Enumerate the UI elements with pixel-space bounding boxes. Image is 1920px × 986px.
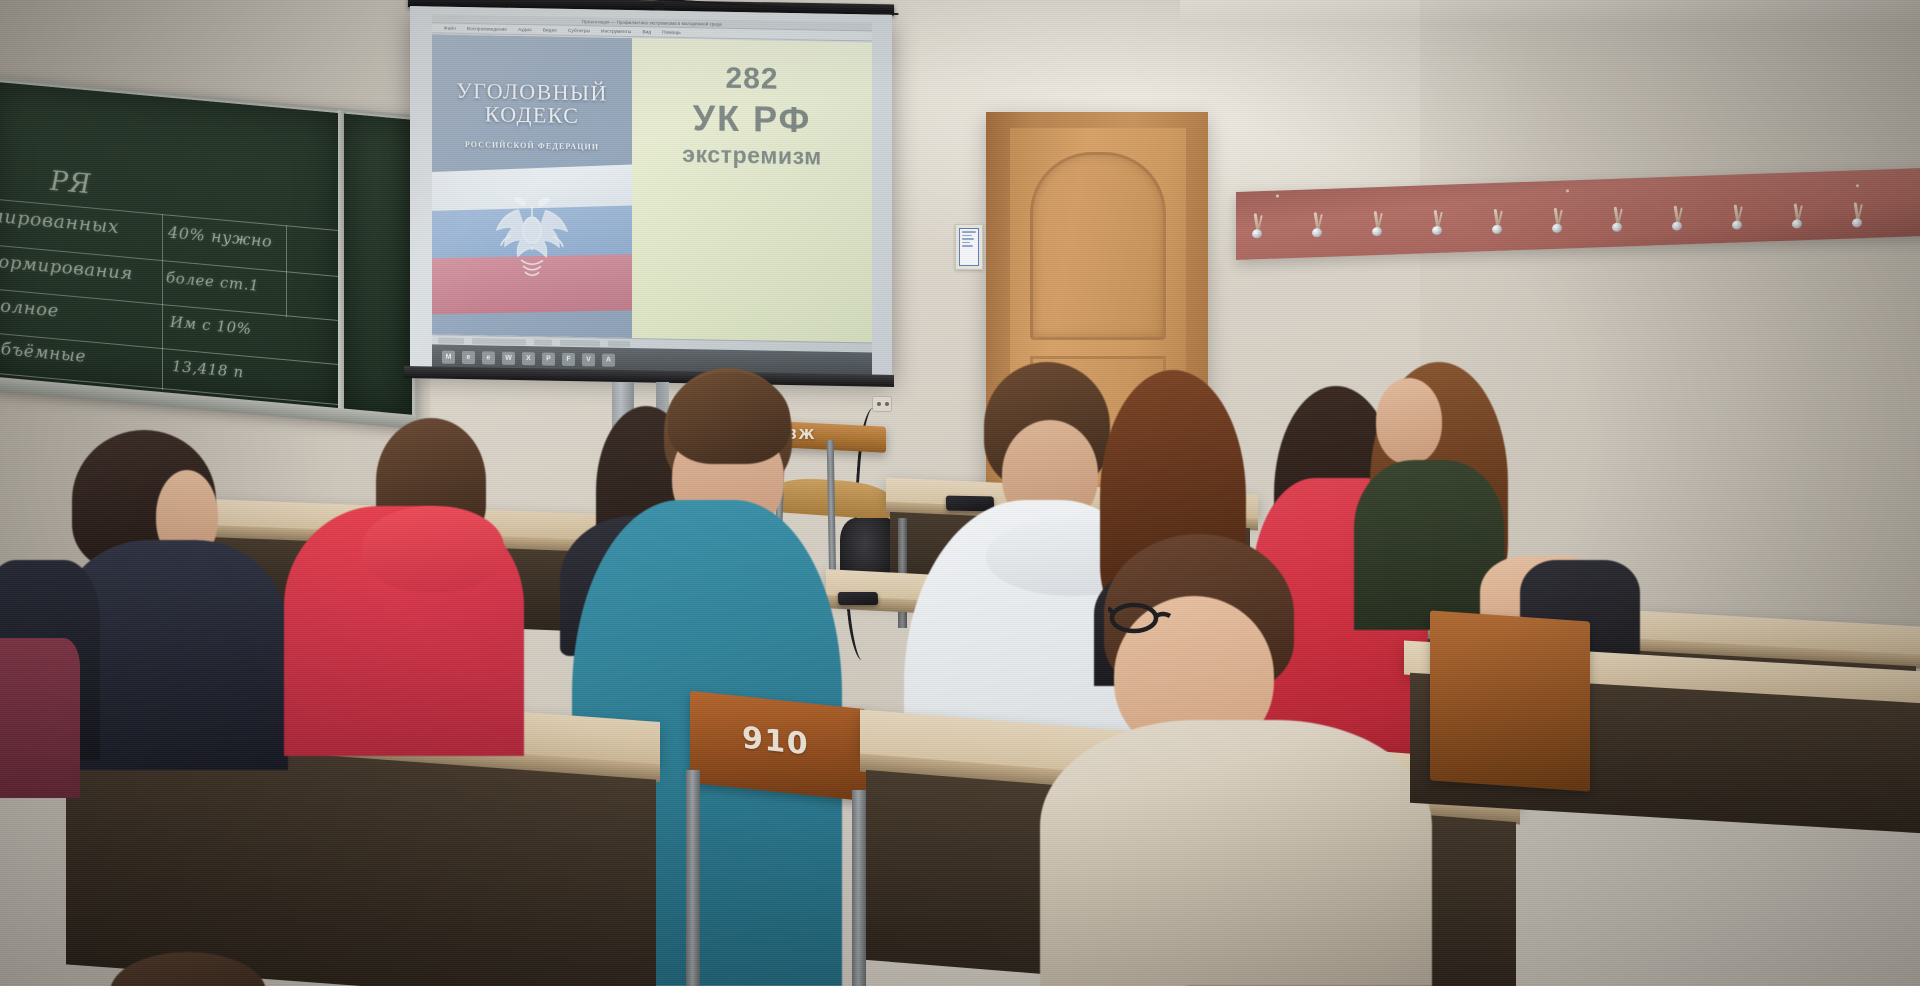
menu-item-2[interactable]: Аудио — [518, 27, 532, 32]
slide-content: УГОЛОВНЫЙ КОДЕКС РОССИЙСКОЙ ФЕДЕРАЦИИ — [432, 34, 872, 342]
coat-hook-8[interactable] — [1730, 204, 1743, 234]
dock-icon-1[interactable]: e — [462, 350, 475, 363]
student-2-hood — [362, 506, 504, 592]
criminal-code-book-cover: УГОЛОВНЫЙ КОДЕКС РОССИЙСКОЙ ФЕДЕРАЦИИ — [432, 34, 632, 338]
chair-910-post-left — [686, 770, 700, 986]
article-282-poster: 282 УК РФ экстремизм — [632, 38, 872, 342]
criminal-code-title-line2: КОДЕКС — [432, 102, 632, 129]
glasses-icon — [1108, 596, 1218, 636]
coat-hook-9[interactable] — [1790, 203, 1803, 233]
desk-front-left-front — [66, 736, 656, 986]
blackboard-heading: РЯ — [50, 166, 91, 201]
student-9-body — [1040, 720, 1432, 986]
criminal-code-title-line1: УГОЛОВНЫЙ — [432, 78, 632, 105]
chair-910-post-right — [852, 790, 866, 986]
dock-icon-2[interactable]: e — [482, 351, 495, 364]
chair-far-right[interactable] — [1430, 610, 1590, 791]
coat-hook-1[interactable] — [1310, 212, 1323, 242]
menu-item-4[interactable]: Субтитры — [568, 28, 590, 33]
projection-surface: Презентация — Профилактика экстремизма в… — [410, 6, 892, 379]
dock-icon-4[interactable]: X — [522, 352, 535, 365]
code-abbreviation: УК РФ — [632, 96, 872, 142]
coat-hook-6[interactable] — [1610, 206, 1623, 236]
coat-hook-2[interactable] — [1370, 211, 1383, 241]
dock-icon-6[interactable]: F — [562, 352, 575, 365]
projected-desktop: Презентация — Профилактика экстремизма в… — [410, 6, 892, 379]
coat-hook-7[interactable] — [1670, 205, 1683, 235]
door-panel-upper — [1030, 152, 1166, 340]
classroom-scene: РЯ мированных 40% нужно нормирования бол… — [0, 0, 1920, 986]
student-8-head — [1376, 378, 1442, 464]
criminal-code-title: УГОЛОВНЫЙ КОДЕКС — [432, 78, 632, 128]
dock-icon-3[interactable]: W — [502, 351, 515, 364]
door-notice-sign — [955, 224, 983, 270]
menu-item-5[interactable]: Инструменты — [601, 29, 631, 35]
menu-item-0[interactable]: Файл — [444, 26, 456, 31]
menu-item-3[interactable]: Видео — [543, 27, 557, 32]
student-4-hair-back — [668, 372, 790, 464]
menu-item-1[interactable]: Воспроизведение — [467, 26, 507, 32]
coat-hook-5[interactable] — [1550, 208, 1563, 238]
phone-on-desk-middle[interactable] — [838, 592, 879, 605]
coat-hook-4[interactable] — [1490, 209, 1503, 239]
coat-hook-0[interactable] — [1250, 213, 1263, 243]
dock-icon-5[interactable]: P — [542, 352, 555, 365]
menu-item-7[interactable]: Помощь — [662, 30, 681, 35]
coat-hook-10[interactable] — [1850, 202, 1863, 232]
blackboard: РЯ мированных 40% нужно нормирования бол… — [0, 76, 418, 427]
article-number: 282 — [632, 60, 872, 98]
dock-icon-0[interactable]: M — [442, 350, 455, 363]
coat-hook-3[interactable] — [1430, 210, 1443, 240]
topic-extremism: экстремизм — [632, 140, 872, 171]
empty-chair-number: 3Ж — [788, 428, 816, 443]
menu-item-6[interactable]: Вид — [642, 29, 651, 34]
projection-screen-assembly: Презентация — Профилактика экстремизма в… — [402, 0, 894, 388]
chair-far-left-maroon[interactable] — [0, 638, 80, 798]
dock-icon-8[interactable]: A — [602, 353, 615, 366]
criminal-code-subtitle: РОССИЙСКОЙ ФЕДЕРАЦИИ — [432, 139, 632, 152]
dock-icon-7[interactable]: V — [582, 353, 595, 366]
double-headed-eagle-icon — [489, 185, 575, 297]
chair-number-910: 910 — [742, 720, 809, 762]
door-notice-inner — [959, 228, 979, 266]
